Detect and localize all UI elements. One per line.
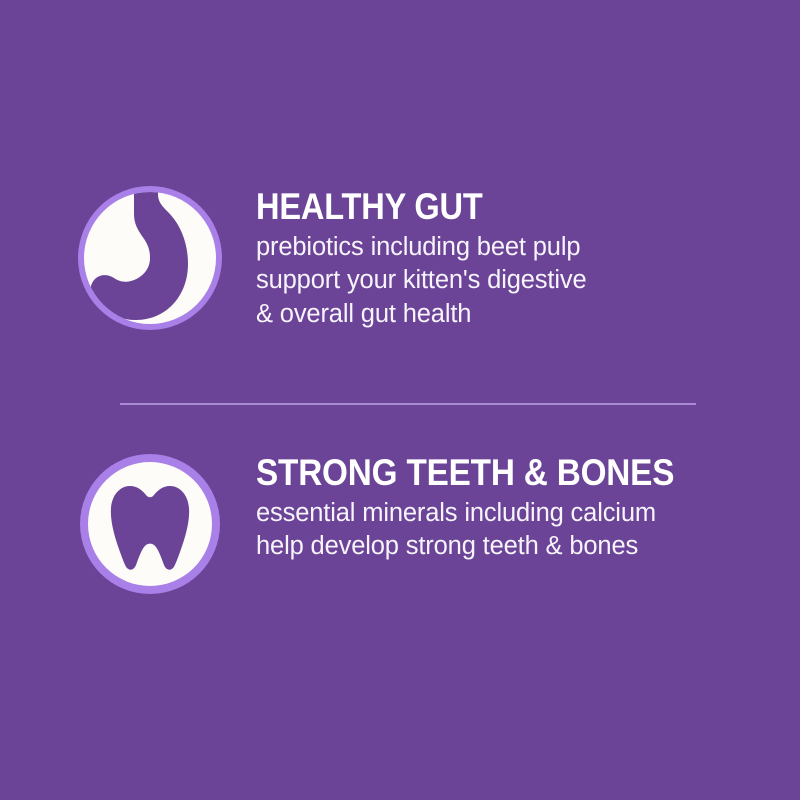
healthy-gut-body-line-3: & overall gut health — [256, 298, 586, 332]
strong-teeth-and-bones-body-line-1: essential minerals including calcium — [256, 497, 721, 531]
healthy-gut-body: prebiotics including beet pulp support y… — [256, 231, 586, 332]
strong-teeth-and-bones-body: essential minerals including calcium hel… — [256, 497, 721, 564]
strong-teeth-and-bones-heading: STRONG TEETH & BONES — [256, 454, 674, 492]
stomach-icon-badge — [76, 184, 224, 332]
section-divider — [120, 403, 696, 405]
stomach-icon — [76, 184, 224, 332]
feature-strong-teeth-and-bones: STRONG TEETH & BONES essential minerals … — [76, 450, 721, 598]
healthy-gut-body-line-2: support your kitten's digestive — [256, 264, 586, 298]
tooth-icon-badge — [76, 450, 224, 598]
tooth-icon — [76, 450, 224, 598]
strong-teeth-and-bones-body-line-2: help develop strong teeth & bones — [256, 530, 721, 564]
healthy-gut-body-line-1: prebiotics including beet pulp — [256, 231, 586, 265]
healthy-gut-text: HEALTHY GUT prebiotics including beet pu… — [224, 184, 586, 332]
healthy-gut-heading: HEALTHY GUT — [256, 188, 547, 226]
strong-teeth-and-bones-text: STRONG TEETH & BONES essential minerals … — [224, 450, 721, 564]
feature-healthy-gut: HEALTHY GUT prebiotics including beet pu… — [76, 184, 586, 332]
benefits-panel: HEALTHY GUT prebiotics including beet pu… — [0, 0, 800, 800]
